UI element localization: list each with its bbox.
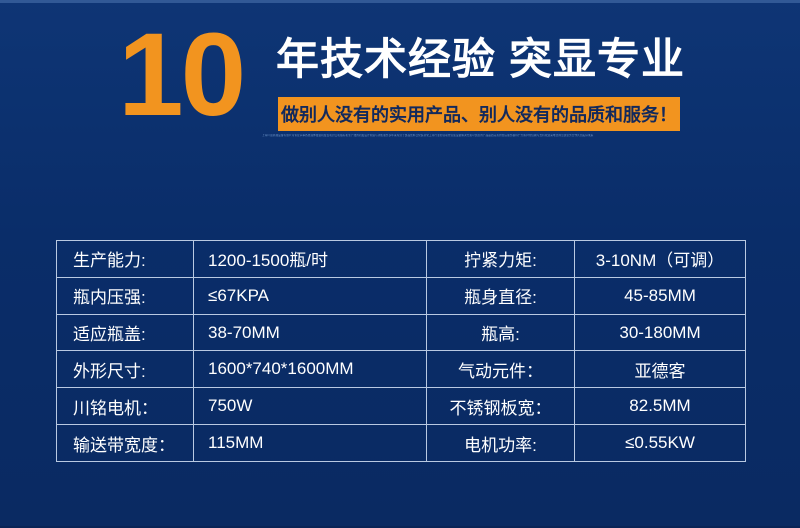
specification-table: 生产能力: 1200-1500瓶/时 拧紧力矩: 3-10NM（可调） 瓶内压强… bbox=[56, 240, 746, 462]
spec-value-cell: 3-10NM（可调） bbox=[575, 241, 745, 277]
promo-header: 10 年技术经验 突显专业 做别人没有的实用产品、别人没有的品质和服务！ 上海川… bbox=[0, 0, 800, 170]
subtitle-banner-text: 做别人没有的实用产品、别人没有的品质和服务！ bbox=[281, 101, 677, 127]
spec-label-cell: 川铭电机： bbox=[57, 388, 194, 424]
spec-label-cell: 瓶内压强: bbox=[57, 278, 194, 314]
spec-label-cell: 瓶身直径: bbox=[427, 278, 575, 314]
spec-label: 气动元件： bbox=[458, 357, 543, 382]
spec-value: 45-85MM bbox=[624, 286, 696, 306]
spec-label: 瓶内压强: bbox=[73, 283, 146, 308]
spec-value-cell: 38-70MM bbox=[194, 315, 427, 351]
spec-value-cell: 1200-1500瓶/时 bbox=[194, 241, 427, 277]
spec-value-cell: 115MM bbox=[194, 425, 427, 461]
spec-value-cell: 30-180MM bbox=[575, 315, 745, 351]
spec-label: 不锈钢板宽： bbox=[450, 394, 552, 419]
spec-value: 38-70MM bbox=[208, 323, 280, 343]
spec-label-cell: 输送带宽度： bbox=[57, 425, 194, 461]
spec-value-cell: ≤0.55KW bbox=[575, 425, 745, 461]
spec-value: 3-10NM（可调） bbox=[596, 246, 724, 271]
table-row: 外形尺寸: 1600*740*1600MM 气动元件： 亚德客 bbox=[57, 351, 745, 388]
spec-label-cell: 瓶高: bbox=[427, 315, 575, 351]
subtitle-banner: 做别人没有的实用产品、别人没有的品质和服务！ bbox=[278, 97, 680, 131]
spec-label-cell: 不锈钢板宽： bbox=[427, 388, 575, 424]
spec-label: 瓶高: bbox=[481, 320, 520, 345]
table-row: 适应瓶盖: 38-70MM 瓶高: 30-180MM bbox=[57, 315, 745, 352]
spec-value-cell: ≤67KPA bbox=[194, 278, 427, 314]
spec-label-cell: 适应瓶盖: bbox=[57, 315, 194, 351]
table-row: 输送带宽度： 115MM 电机功率: ≤0.55KW bbox=[57, 425, 745, 461]
spec-label-cell: 电机功率: bbox=[427, 425, 575, 461]
spec-value: 115MM bbox=[208, 433, 263, 453]
spec-value: 82.5MM bbox=[629, 396, 690, 416]
spec-label-cell: 外形尺寸: bbox=[57, 351, 194, 387]
spec-label-cell: 生产能力: bbox=[57, 241, 194, 277]
spec-label: 外形尺寸: bbox=[73, 357, 146, 382]
spec-value-cell: 亚德客 bbox=[575, 351, 745, 387]
table-row: 瓶内压强: ≤67KPA 瓶身直径: 45-85MM bbox=[57, 278, 745, 315]
spec-label-cell: 气动元件： bbox=[427, 351, 575, 387]
headline-text: 年技术经验 突显专业 bbox=[276, 34, 685, 86]
spec-value-cell: 1600*740*1600MM bbox=[194, 351, 427, 387]
spec-label: 电机功率: bbox=[464, 431, 537, 456]
spec-value: 1600*740*1600MM bbox=[208, 359, 354, 379]
table-row: 川铭电机： 750W 不锈钢板宽： 82.5MM bbox=[57, 388, 745, 425]
spec-label: 拧紧力矩: bbox=[464, 246, 537, 271]
spec-label: 适应瓶盖: bbox=[73, 320, 146, 345]
fineprint-text: 上海川铭机械设备有限公司专业从事各类液体灌装机旋盖机封口机贴标机生产线的研发设计… bbox=[262, 134, 682, 156]
spec-label: 输送带宽度： bbox=[73, 431, 175, 456]
spec-value-cell: 82.5MM bbox=[575, 388, 745, 424]
spec-value-cell: 45-85MM bbox=[575, 278, 745, 314]
spec-value: 750W bbox=[208, 396, 252, 416]
spec-value: ≤0.55KW bbox=[625, 433, 695, 453]
spec-value-cell: 750W bbox=[194, 388, 427, 424]
spec-label: 生产能力: bbox=[73, 246, 146, 271]
table-row: 生产能力: 1200-1500瓶/时 拧紧力矩: 3-10NM（可调） bbox=[57, 241, 745, 278]
spec-value: ≤67KPA bbox=[208, 286, 269, 306]
spec-value: 30-180MM bbox=[619, 323, 700, 343]
spec-label-cell: 拧紧力矩: bbox=[427, 241, 575, 277]
spec-value: 亚德客 bbox=[635, 357, 686, 382]
spec-label: 川铭电机： bbox=[73, 394, 158, 419]
spec-label: 瓶身直径: bbox=[464, 283, 537, 308]
spec-value: 1200-1500瓶/时 bbox=[208, 246, 328, 271]
years-number: 10 bbox=[118, 16, 243, 134]
